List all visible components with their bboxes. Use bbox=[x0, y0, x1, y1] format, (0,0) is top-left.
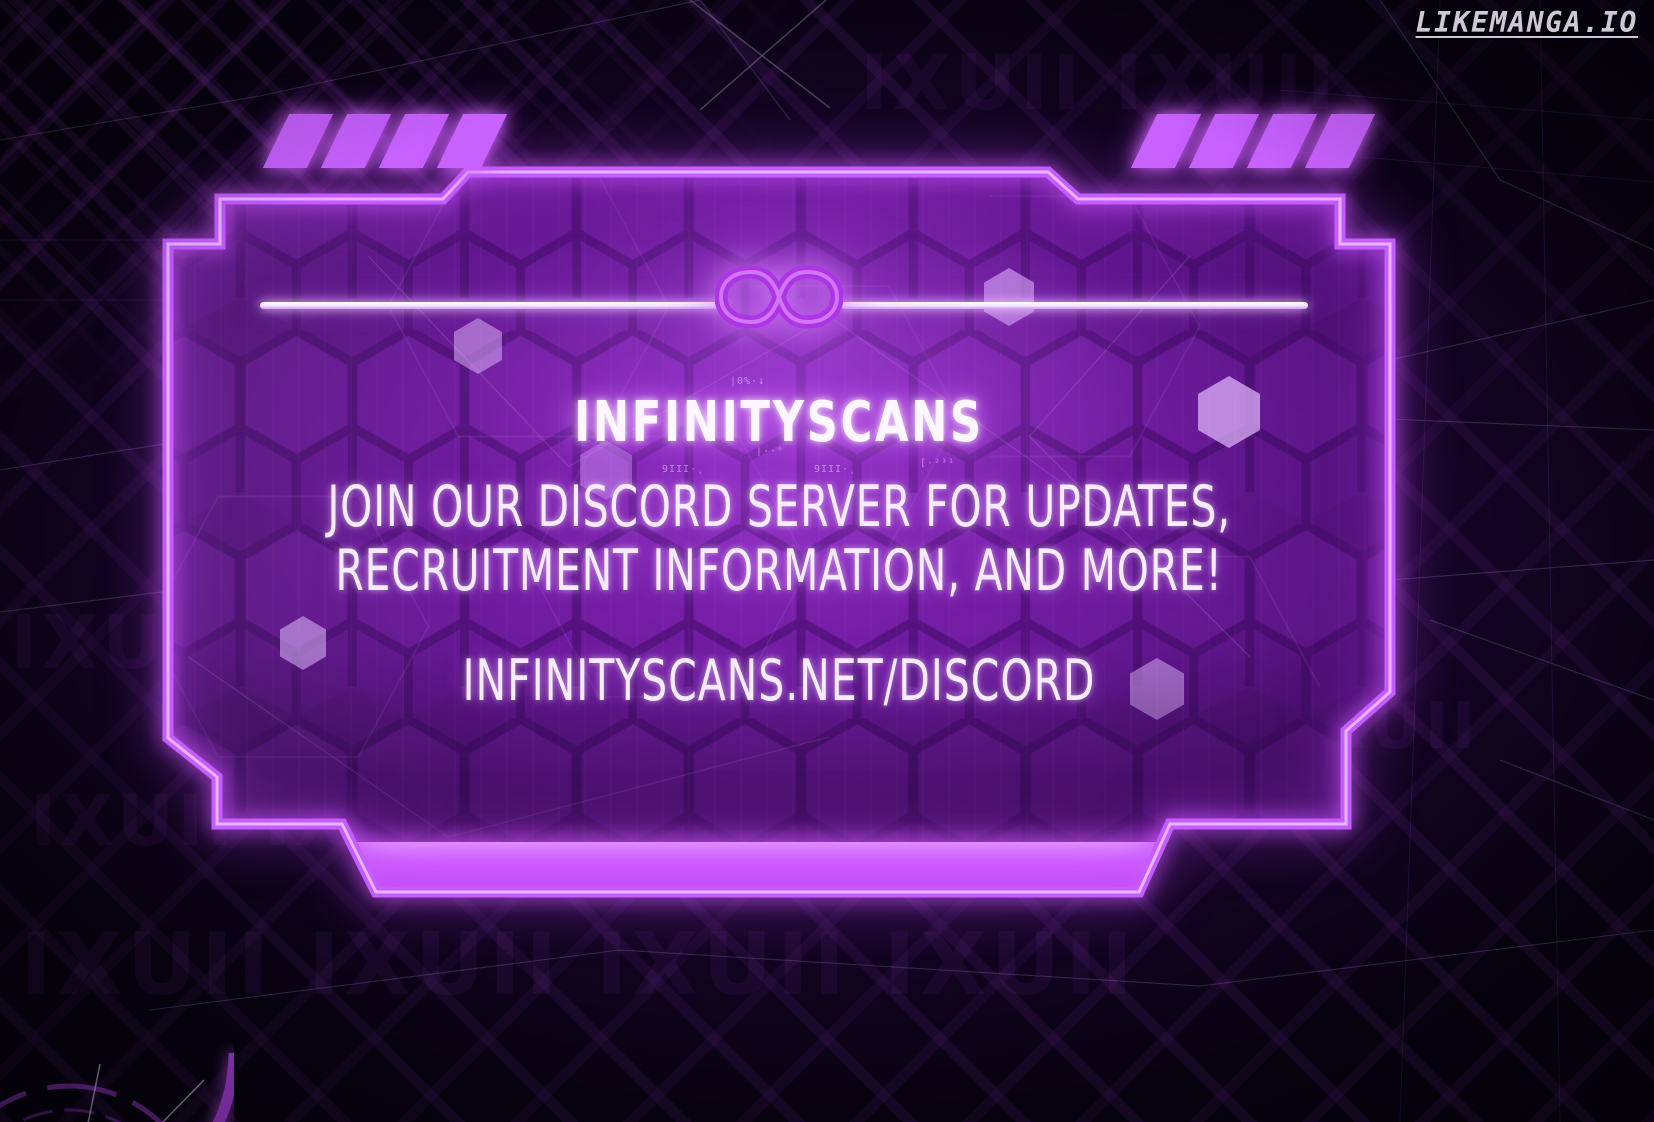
slash-bar bbox=[321, 114, 391, 168]
slash-bar bbox=[379, 114, 449, 168]
poster-canvas: IXUII IXUII IXUII IXUII IXUII IXUII IXUI… bbox=[0, 0, 1654, 1122]
divider-left bbox=[260, 302, 728, 309]
brand-title-text: INFINITYSCANS bbox=[574, 390, 984, 455]
divider-right bbox=[840, 302, 1308, 309]
discord-url[interactable]: infinityscans.net/discord bbox=[383, 648, 1174, 714]
slash-bars-right bbox=[1144, 114, 1362, 168]
micro-glyph: |0%·↓ bbox=[730, 376, 765, 387]
site-watermark: LIKEMANGA.IO bbox=[1416, 6, 1638, 39]
slash-bar bbox=[1189, 114, 1259, 168]
slash-bar bbox=[1247, 114, 1317, 168]
tagline-line-1: Join our discord server for updates, bbox=[192, 476, 1365, 540]
slash-bars-left bbox=[276, 114, 494, 168]
infinity-icon bbox=[715, 260, 843, 334]
discord-url-text: infinityscans.net/discord bbox=[463, 648, 1096, 714]
panel-content: |0%·↓ 9III·͵ 9III·͵ [·²³¹ |··⁰ INFINITYS… bbox=[168, 176, 1390, 892]
tagline: Join our discord server for updates, rec… bbox=[192, 476, 1365, 604]
info-panel: |0%·↓ 9III·͵ 9III·͵ [·²³¹ |··⁰ INFINITYS… bbox=[168, 176, 1390, 892]
micro-glyph: [·²³¹ bbox=[920, 458, 955, 469]
tagline-line-2: recruitment information, and more! bbox=[192, 540, 1365, 604]
brand-title: INFINITYSCANS bbox=[541, 390, 1018, 455]
